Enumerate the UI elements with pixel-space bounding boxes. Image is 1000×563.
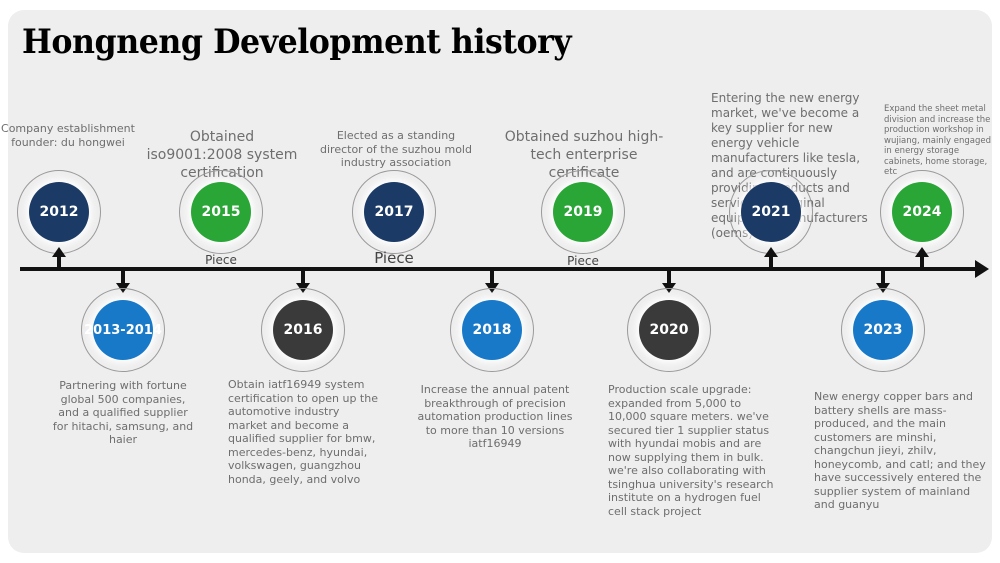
node-year-badge: 2016	[273, 300, 333, 360]
node-year-line2: 2014	[126, 323, 162, 338]
milestone-description-2013-2014: Partnering with fortune global 500 compa…	[49, 379, 197, 447]
connector-arrow-up-2024	[915, 247, 929, 269]
node-year-badge: 2021	[741, 182, 801, 242]
milestone-description-2024: Expand the sheet metal division and incr…	[884, 104, 994, 178]
timeline-axis-line	[20, 267, 985, 271]
node-year-badge: 2012	[29, 182, 89, 242]
node-year-badge: 2024	[892, 182, 952, 242]
node-year-line1: 2013-	[84, 323, 126, 338]
milestone-description-2018: Increase the annual patent breakthrough …	[415, 383, 575, 451]
connector-arrow-up-2021	[764, 247, 778, 269]
node-year-badge: 2017	[364, 182, 424, 242]
node-year-badge: 2020	[639, 300, 699, 360]
node-year-badge: 2013- 2014	[93, 300, 153, 360]
piece-label-2017: Piece	[352, 250, 436, 267]
node-year-badge: 2023	[853, 300, 913, 360]
node-year-badge: 2018	[462, 300, 522, 360]
infographic-canvas: Hongneng Development history Company est…	[0, 0, 1000, 563]
connector-arrow-up-2012	[52, 247, 66, 269]
milestone-description-2023: New energy copper bars and battery shell…	[814, 390, 986, 512]
timeline-axis-arrow-icon	[975, 260, 989, 278]
milestone-description-2012: Company establishment founder: du hongwe…	[0, 122, 136, 149]
milestone-description-2020: Production scale upgrade: expanded from …	[608, 383, 774, 518]
piece-label-2015: Piece	[179, 253, 263, 267]
page-title: Hongneng Development history	[22, 22, 571, 62]
node-year-badge: 2015	[191, 182, 251, 242]
piece-label-2019: Piece	[541, 254, 625, 268]
node-year-badge: 2019	[553, 182, 613, 242]
milestone-description-2016: Obtain iatf16949 system certification to…	[228, 378, 380, 486]
milestone-description-2017: Elected as a standing director of the su…	[314, 129, 478, 170]
